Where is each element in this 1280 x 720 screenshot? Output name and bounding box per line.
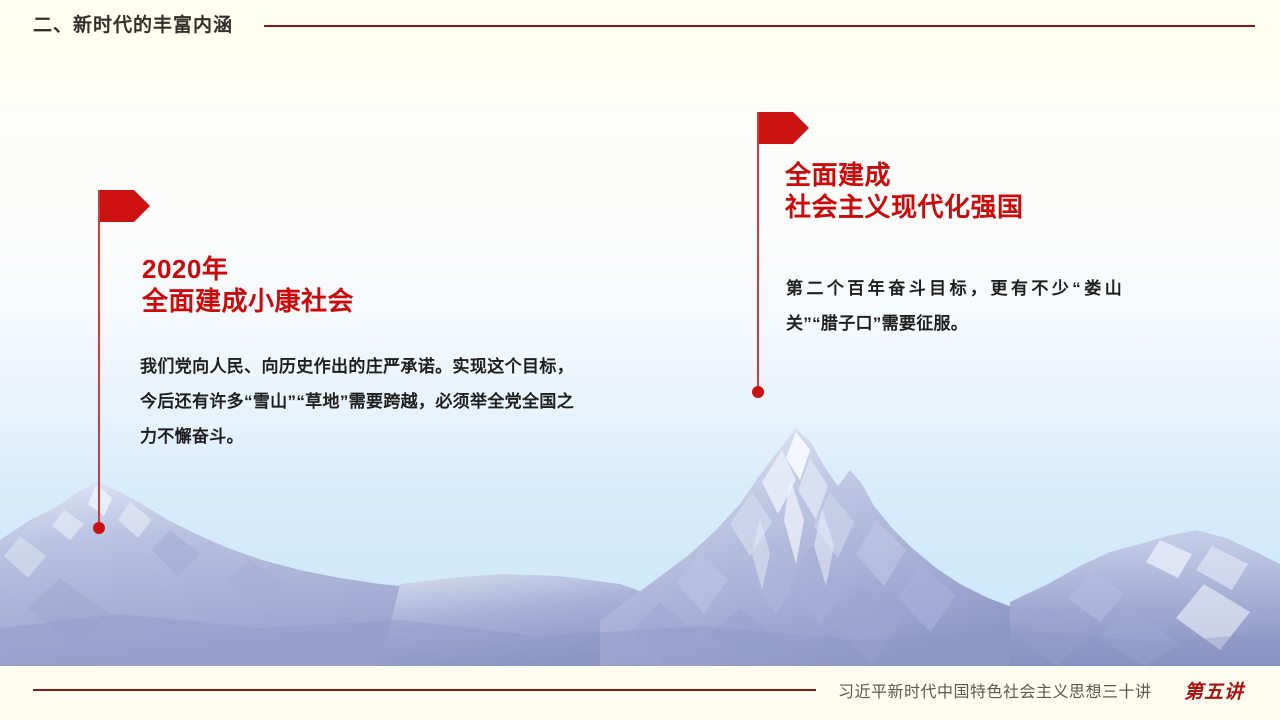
callout-title-right: 全面建成 社会主义现代化强国	[785, 160, 1215, 223]
flag-body-icon	[100, 190, 134, 222]
callout-title-left: 2020年 全面建成小康社会	[142, 254, 562, 317]
flag-body-icon	[759, 112, 793, 144]
flag-tip-icon	[134, 190, 150, 222]
page-title: 二、新时代的丰富内涵	[33, 10, 233, 37]
footer-series-title: 习近平新时代中国特色社会主义思想三十讲	[838, 678, 1152, 702]
footer-lecture-badge: 第五讲	[1184, 677, 1244, 704]
callout-body-right: 第二个百年奋斗目标，更有不少“娄山关”“腊子口”需要征服。	[786, 272, 1122, 342]
flag-pole-line	[98, 190, 100, 528]
flag-anchor-dot-icon	[752, 386, 764, 398]
flag-pole-line	[757, 112, 759, 392]
flag-anchor-dot-icon	[93, 522, 105, 534]
callout-body-left: 我们党向人民、向历史作出的庄严承诺。实现这个目标，今后还有许多“雪山”“草地”需…	[140, 350, 574, 455]
footer-divider-line	[33, 689, 816, 691]
slide-header: 二、新时代的丰富内涵	[0, 0, 1280, 46]
header-divider-line	[264, 25, 1255, 27]
flag-tip-icon	[793, 112, 809, 144]
slide-footer: 习近平新时代中国特色社会主义思想三十讲 第五讲	[0, 666, 1280, 720]
presentation-slide: 二、新时代的丰富内涵 2020年 全面建成小康社会 我们党向人民、向历史作出的庄…	[0, 0, 1280, 720]
